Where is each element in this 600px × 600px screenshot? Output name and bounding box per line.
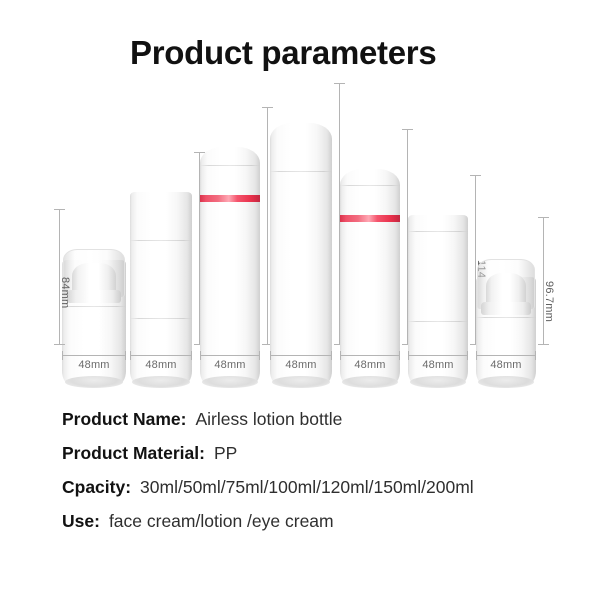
height-label-7: 96.7mm [543, 281, 555, 322]
bottle-base-shadow [410, 376, 465, 388]
bottle-base-shadow [478, 376, 533, 388]
width-label-7: 48mm [476, 359, 536, 371]
width-dimension-3: 48mm [200, 355, 260, 377]
spec-value-product-name: Airless lotion bottle [195, 408, 342, 431]
bottle-body-5 [340, 169, 400, 385]
dimension-line [62, 355, 126, 356]
spec-key-use: Use: [62, 510, 100, 533]
dimension-line [408, 355, 468, 356]
bottle-base-shadow [342, 376, 397, 388]
bottle-group-7 [476, 100, 536, 385]
bottle-group-3 [200, 100, 260, 385]
width-label-3: 48mm [200, 359, 260, 371]
spec-value-use: face cream/lotion /eye cream [109, 510, 334, 533]
bottle-group-6 [408, 100, 468, 385]
width-dimension-2: 48mm [130, 355, 192, 377]
dimension-cap-top [334, 83, 345, 84]
spec-value-product-material: PP [214, 442, 237, 465]
bottle-size-diagram: 84mm 48mm 130.2mm 48mm [0, 100, 600, 385]
bottle-group-5 [340, 100, 400, 385]
width-dimension-5: 48mm [340, 355, 400, 377]
width-label-5: 48mm [340, 359, 400, 371]
bottle-body-3 [200, 147, 260, 385]
pump-collar-7 [481, 302, 531, 315]
spec-row-product-material: Product Material: PP [62, 442, 562, 465]
dimension-line [200, 355, 260, 356]
bottle-body-4 [270, 123, 332, 385]
bottle-seam [408, 321, 468, 322]
bottle-seam [270, 171, 332, 172]
page-title: Product parameters [130, 34, 436, 72]
spec-key-product-name: Product Name: [62, 408, 186, 431]
product-spec-list: Product Name: Airless lotion bottle Prod… [62, 408, 562, 544]
width-label-1: 48mm [62, 359, 126, 371]
dimension-line [130, 355, 192, 356]
bottle-seam [130, 240, 192, 241]
bottle-seam [62, 306, 126, 307]
bottle-group-2 [130, 100, 192, 385]
bottle-group-1 [62, 100, 126, 385]
width-label-6: 48mm [408, 359, 468, 371]
dimension-cap-top [538, 217, 549, 218]
spec-key-capacity: Cpacity: [62, 476, 131, 499]
pump-collar-1 [67, 290, 121, 303]
height-label-1: 84mm [59, 277, 71, 308]
spec-row-capacity: Cpacity: 30ml/50ml/75ml/100ml/120ml/150m… [62, 476, 562, 499]
bottle-seam [130, 318, 192, 319]
spec-key-product-material: Product Material: [62, 442, 205, 465]
bottle-seam [340, 185, 400, 186]
bottle-base-shadow [132, 376, 189, 388]
bottle-group-4 [270, 100, 332, 385]
width-dimension-4: 48mm [270, 355, 332, 377]
bottle-seam [476, 317, 536, 318]
height-dimension-1: 84mm [54, 209, 65, 345]
dimension-line [476, 355, 536, 356]
width-label-2: 48mm [130, 359, 192, 371]
pump-actuator-1 [72, 263, 116, 293]
dimension-cap-top [54, 209, 65, 210]
red-band-5 [340, 215, 400, 222]
height-dimension-7: 96.7mm [538, 217, 549, 345]
spec-value-capacity: 30ml/50ml/75ml/100ml/120ml/150ml/200ml [140, 476, 460, 499]
dimension-cap-bottom [538, 344, 549, 345]
width-dimension-1: 48mm [62, 355, 126, 377]
width-label-4: 48mm [270, 359, 332, 371]
bottle-seam [200, 165, 260, 166]
red-band-3 [200, 195, 260, 202]
pump-actuator-7 [486, 273, 527, 305]
dimension-line [270, 355, 332, 356]
dimension-cap-bottom [54, 344, 65, 345]
width-dimension-7: 48mm [476, 355, 536, 377]
spec-row-product-name: Product Name: Airless lotion bottle [62, 408, 562, 431]
spec-row-use: Use: face cream/lotion /eye cream [62, 510, 562, 533]
bottle-base-shadow [65, 376, 124, 388]
bottle-base-shadow [202, 376, 257, 388]
bottle-base-shadow [272, 376, 329, 388]
dimension-line [340, 355, 400, 356]
width-dimension-6: 48mm [408, 355, 468, 377]
bottle-seam [408, 231, 468, 232]
